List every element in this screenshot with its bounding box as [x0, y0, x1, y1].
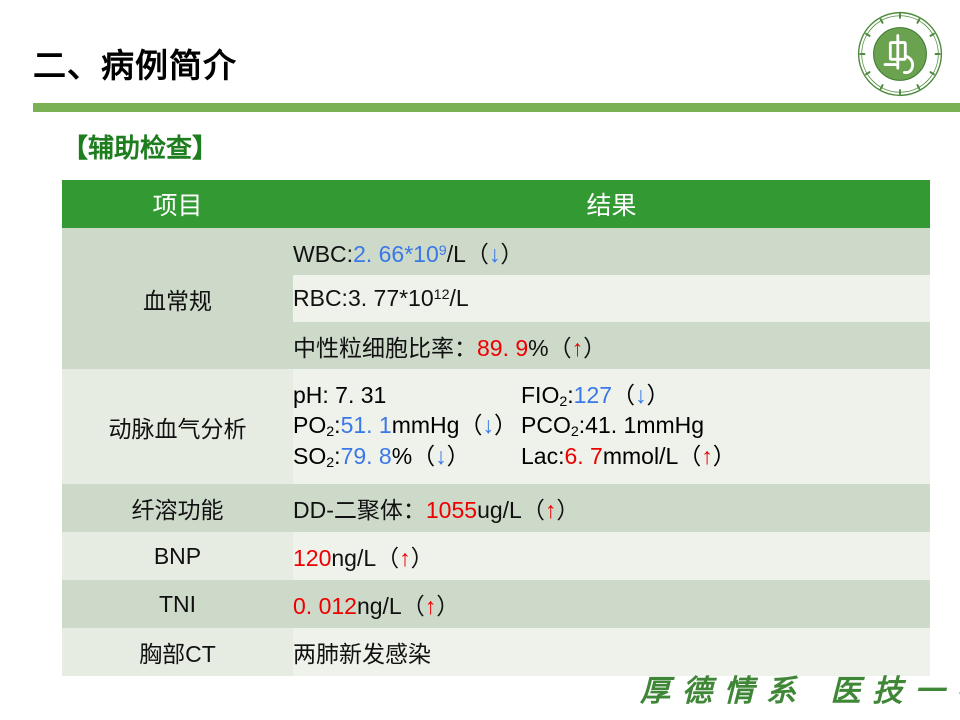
table-body: 血常规WBC:2. 66*109/L（↓）RBC:3. 77*1012/L中性粒… [62, 228, 930, 676]
section-heading: 【辅助检查】 [62, 128, 218, 165]
table-row: 血常规WBC:2. 66*109/L（↓） [62, 228, 930, 275]
row-item-label: 纤溶功能 [62, 484, 293, 532]
row-result-value: DD-二聚体：1055ug/L（↑） [293, 484, 930, 532]
bloodgas-left: PO2:51. 1mmHg（↓） [293, 411, 521, 441]
row-item-label: TNI [62, 580, 293, 628]
row-item-label: 胸部CT [62, 628, 293, 676]
column-header-result: 结果 [293, 180, 930, 228]
bloodgas-left: SO2:79. 8%（↓） [293, 442, 521, 472]
table-row: 动脉血气分析pH: 7. 31FIO2:127（↓）PO2:51. 1mmHg（… [62, 369, 930, 484]
page-title: 二、病例简介 [33, 48, 237, 84]
table-header-row: 项目 结果 [62, 180, 930, 228]
row-result-value: 0. 012ng/L（↑） [293, 580, 930, 628]
table-row: TNI0. 012ng/L（↑） [62, 580, 930, 628]
auxiliary-examination-table: 项目 结果 血常规WBC:2. 66*109/L（↓）RBC:3. 77*101… [62, 180, 930, 676]
bloodgas-right: PCO2:41. 1mmHg [521, 412, 704, 438]
row-item-label: BNP [62, 532, 293, 580]
row-result-value: pH: 7. 31FIO2:127（↓）PO2:51. 1mmHg（↓）PCO2… [293, 369, 930, 484]
row-result-value: WBC:2. 66*109/L（↓） [293, 228, 930, 275]
table-row: BNP120ng/L（↑） [62, 532, 930, 580]
bloodgas-line: pH: 7. 31FIO2:127（↓） [293, 381, 930, 411]
bloodgas-line: SO2:79. 8%（↓）Lac:6. 7mmol/L（↑） [293, 442, 930, 472]
bloodgas-right: Lac:6. 7mmol/L（↑） [521, 443, 736, 469]
column-header-item: 项目 [62, 180, 293, 228]
bloodgas-line: PO2:51. 1mmHg（↓）PCO2:41. 1mmHg [293, 411, 930, 441]
row-item-label: 动脉血气分析 [62, 369, 293, 484]
zhongda-hospital-logo-icon [856, 10, 944, 98]
calligraphy-watermark: 厚德情系 医技一善 [640, 666, 960, 710]
table-row: 纤溶功能DD-二聚体：1055ug/L（↑） [62, 484, 930, 532]
bloodgas-left: pH: 7. 31 [293, 381, 521, 409]
table-head: 项目 结果 [62, 180, 930, 228]
slide-canvas: 二、病例简介 【辅助检查】 项目 结果 血常规WBC:2. 66*109/L（↓… [0, 0, 960, 720]
row-result-value: 中性粒细胞比率：89. 9%（↑） [293, 322, 930, 369]
row-result-value: RBC:3. 77*1012/L [293, 275, 930, 322]
row-item-label: 血常规 [62, 228, 293, 369]
title-divider [33, 103, 960, 112]
row-result-value: 120ng/L（↑） [293, 532, 930, 580]
bloodgas-right: FIO2:127（↓） [521, 382, 670, 408]
